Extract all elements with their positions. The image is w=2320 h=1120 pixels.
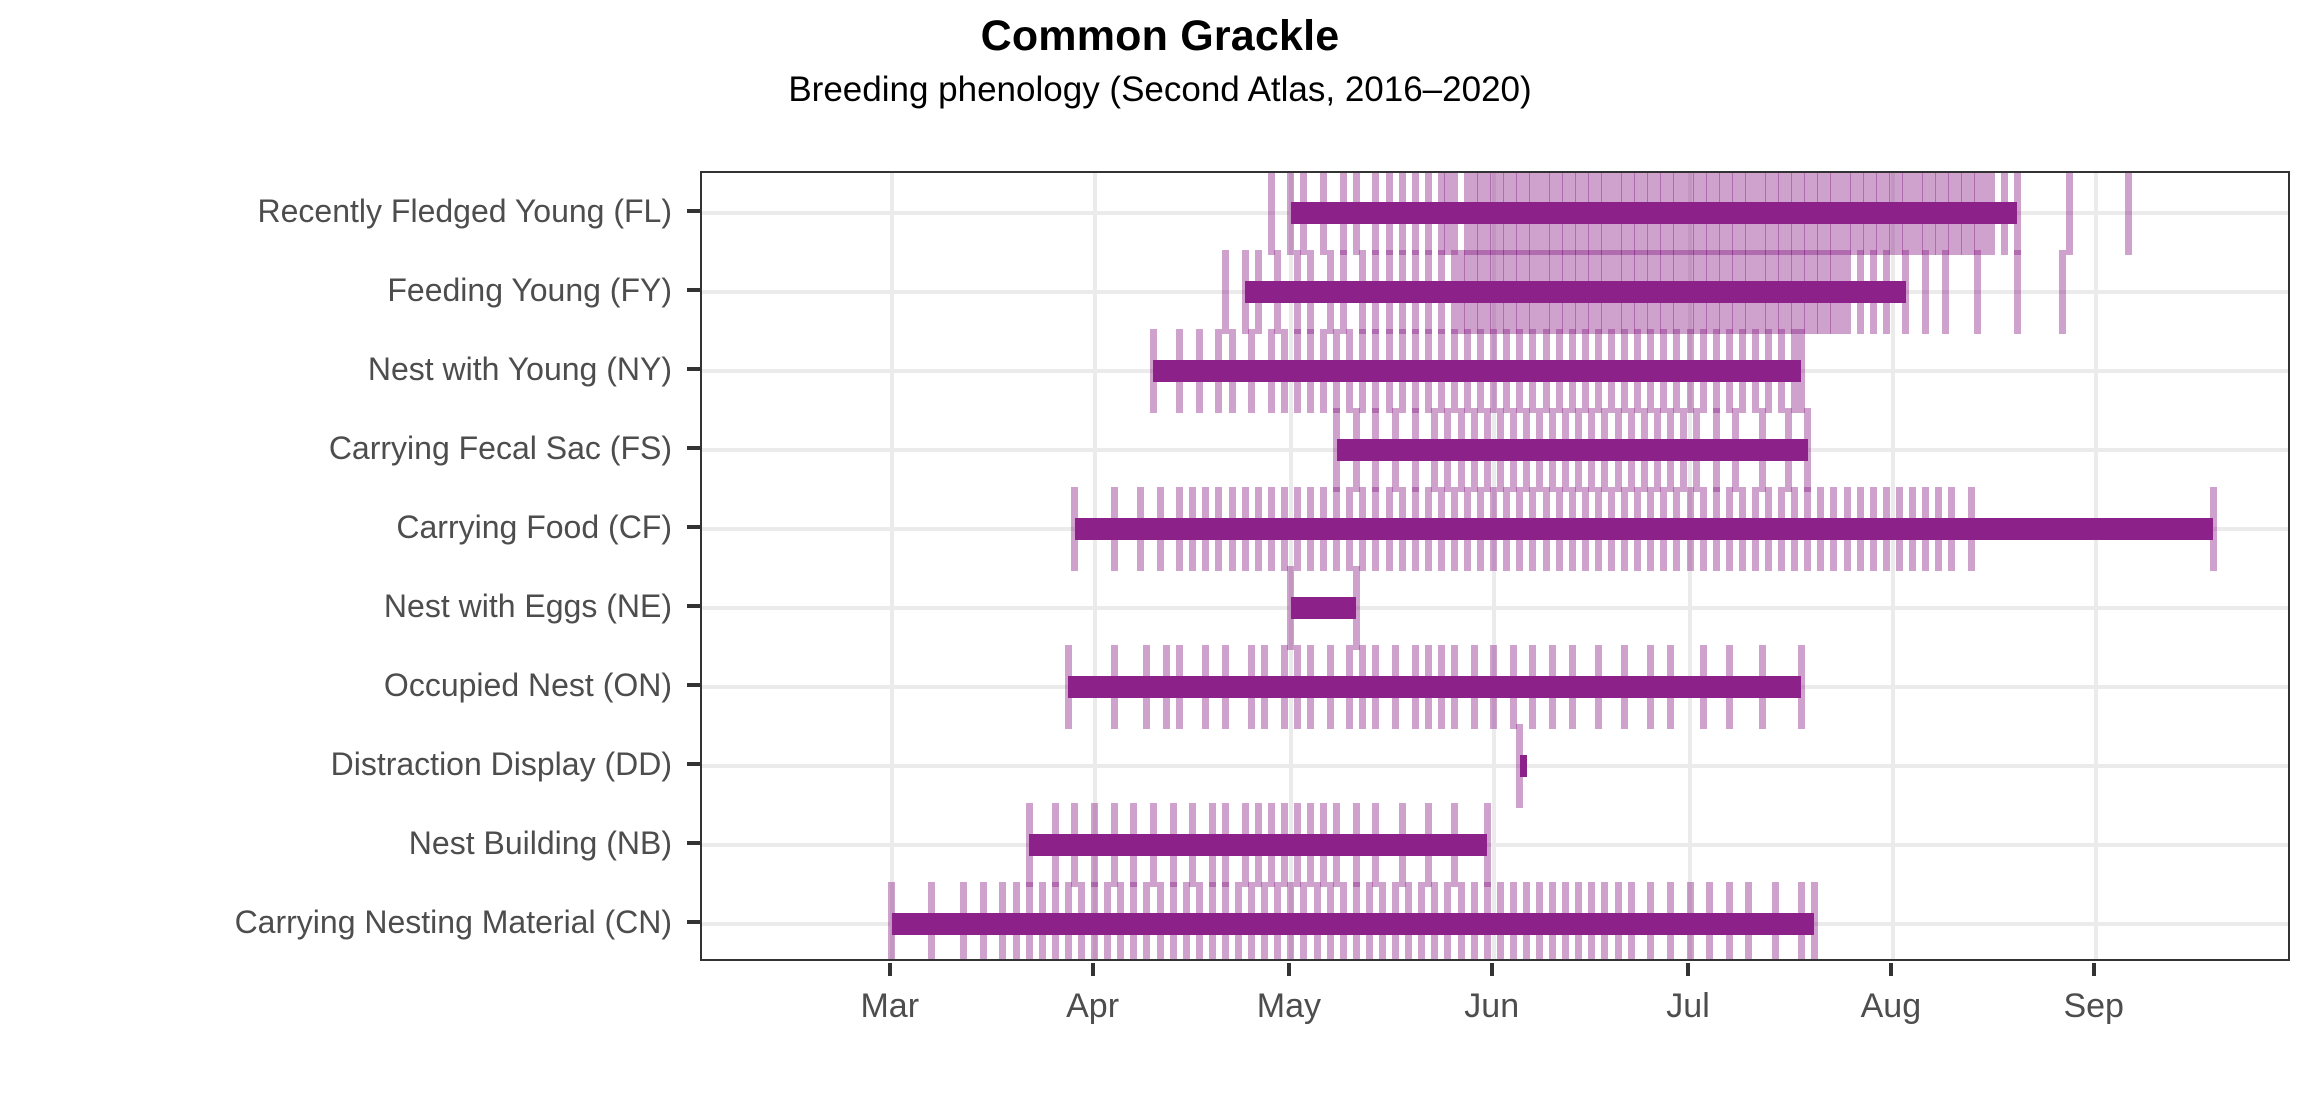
x-axis-label-mar: Mar bbox=[790, 986, 990, 1026]
x-axis-tick bbox=[1287, 963, 1291, 976]
y-axis-tick bbox=[687, 446, 700, 450]
y-axis-tick bbox=[687, 762, 700, 766]
record-tick bbox=[2059, 250, 2066, 334]
y-axis-label-dd: Distraction Display (DD) bbox=[331, 748, 672, 780]
record-tick bbox=[1942, 250, 1949, 334]
range-bar bbox=[1153, 360, 1801, 382]
page-title: Common Grackle bbox=[0, 10, 2320, 62]
x-axis-tick bbox=[1091, 963, 1095, 976]
y-axis-tick bbox=[687, 525, 700, 529]
x-axis-label-jun: Jun bbox=[1392, 986, 1592, 1026]
chart-subtitle: Breeding phenology (Second Atlas, 2016–2… bbox=[0, 64, 2320, 116]
y-axis-label-on: Occupied Nest (ON) bbox=[384, 669, 672, 701]
phenology-chart-root: Common Grackle Breeding phenology (Secon… bbox=[0, 0, 2320, 1120]
y-axis-label-fs: Carrying Fecal Sac (FS) bbox=[329, 432, 672, 464]
y-axis-label-cf: Carrying Food (CF) bbox=[396, 511, 672, 543]
y-axis-tick bbox=[687, 683, 700, 687]
title-block: Common Grackle Breeding phenology (Secon… bbox=[0, 10, 2320, 116]
range-bar bbox=[1068, 676, 1801, 698]
record-tick bbox=[2014, 250, 2021, 334]
record-tick bbox=[2066, 171, 2073, 255]
record-tick bbox=[2125, 171, 2132, 255]
x-axis-tick bbox=[888, 963, 892, 976]
record-tick bbox=[1974, 250, 1981, 334]
y-axis-tick bbox=[687, 604, 700, 608]
y-axis-label-fl: Recently Fledged Young (FL) bbox=[258, 195, 672, 227]
x-axis-label-aug: Aug bbox=[1791, 986, 1991, 1026]
y-axis-tick bbox=[687, 920, 700, 924]
y-axis-labels: Recently Fledged Young (FL)Feeding Young… bbox=[0, 171, 672, 961]
record-tick bbox=[1922, 250, 1929, 334]
range-bar bbox=[1245, 281, 1906, 303]
x-axis-label-sep: Sep bbox=[1994, 986, 2194, 1026]
y-axis-label-fy: Feeding Young (FY) bbox=[387, 274, 672, 306]
x-axis-label-may: May bbox=[1189, 986, 1389, 1026]
y-axis-label-ne: Nest with Eggs (NE) bbox=[384, 590, 672, 622]
y-axis-label-ny: Nest with Young (NY) bbox=[368, 353, 672, 385]
y-axis-label-nb: Nest Building (NB) bbox=[409, 827, 672, 859]
range-bar bbox=[1291, 597, 1356, 619]
range-bar bbox=[892, 913, 1815, 935]
record-tick bbox=[1268, 171, 1275, 255]
y-axis-tick bbox=[687, 367, 700, 371]
x-axis-label-jul: Jul bbox=[1588, 986, 1788, 1026]
range-bar bbox=[1337, 439, 1808, 461]
y-axis-tick bbox=[687, 841, 700, 845]
plot-panel bbox=[700, 171, 2290, 961]
horizontal-gridline bbox=[702, 764, 2288, 768]
horizontal-gridline bbox=[702, 843, 2288, 847]
range-bar bbox=[1291, 202, 2017, 224]
range-bar bbox=[1075, 518, 2214, 540]
x-axis-label-apr: Apr bbox=[993, 986, 1193, 1026]
x-axis-tick bbox=[2092, 963, 2096, 976]
y-axis-tick bbox=[687, 288, 700, 292]
range-bar bbox=[1520, 755, 1527, 777]
horizontal-gridline bbox=[702, 606, 2288, 610]
range-bar bbox=[1029, 834, 1487, 856]
y-axis-label-cn: Carrying Nesting Material (CN) bbox=[235, 906, 672, 938]
x-axis-tick bbox=[1889, 963, 1893, 976]
y-axis-tick bbox=[687, 209, 700, 213]
record-tick bbox=[1222, 250, 1229, 334]
x-axis-tick bbox=[1686, 963, 1690, 976]
x-axis-tick bbox=[1490, 963, 1494, 976]
